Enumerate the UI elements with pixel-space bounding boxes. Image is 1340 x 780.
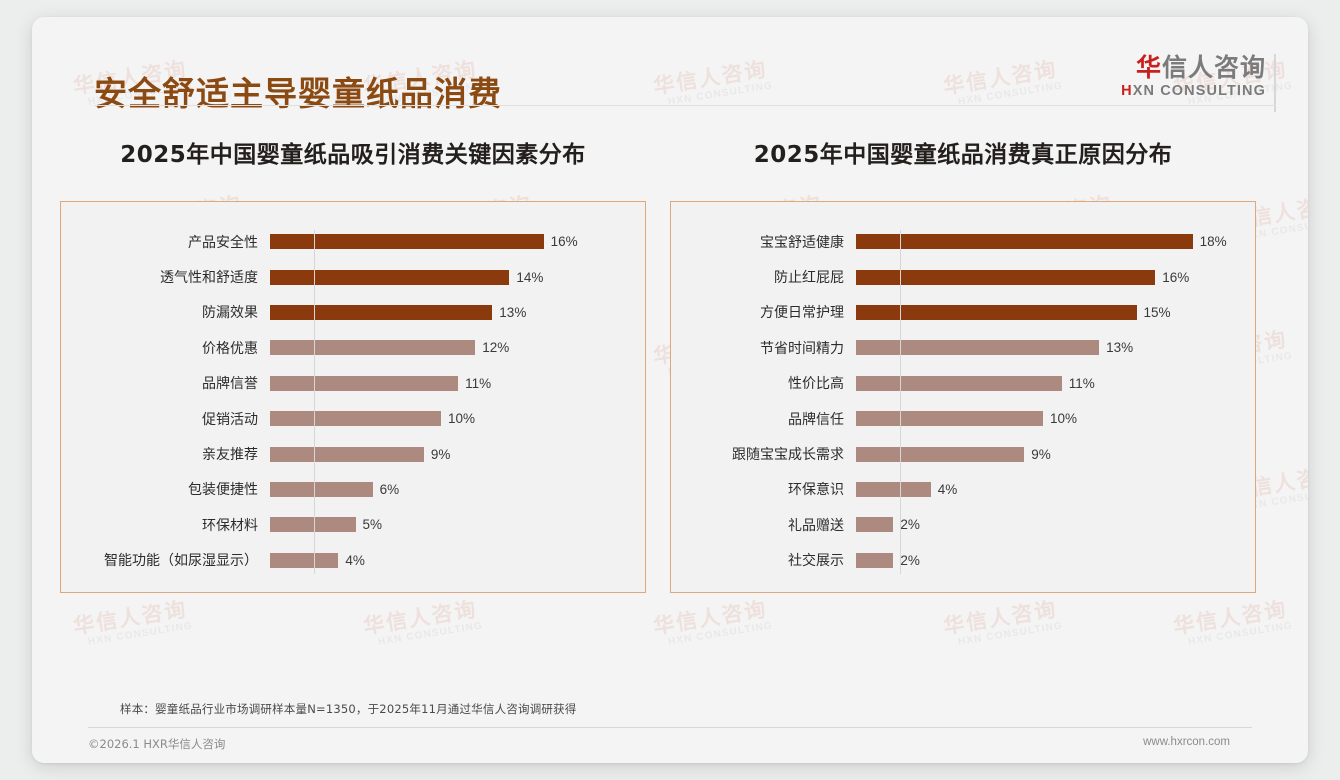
bar: [270, 482, 373, 497]
bar-category-label: 宝宝舒适健康: [671, 232, 856, 252]
bar-track: 18%: [856, 234, 1255, 249]
bar-track: 12%: [270, 340, 645, 355]
watermark-mark: 华信人咨询HXN CONSULTING: [652, 599, 774, 650]
bar-row: 智能功能（如尿湿显示）4%: [61, 544, 645, 577]
bar-category-label: 跟随宝宝成长需求: [671, 444, 856, 464]
bar-track: 5%: [270, 517, 645, 532]
bar-row: 包装便捷性6%: [61, 473, 645, 506]
bar-value-label: 2%: [900, 553, 920, 568]
bar-value-label: 6%: [380, 482, 400, 497]
bar-track: 11%: [270, 376, 645, 391]
watermark-mark: 华信人咨询HXN CONSULTING: [1172, 599, 1294, 650]
bar-row: 促销活动10%: [61, 402, 645, 435]
footer-divider: [88, 727, 1252, 728]
bar-category-label: 品牌信任: [671, 409, 856, 429]
watermark-cn: 华信人咨询: [652, 599, 772, 639]
watermark-mark: 华信人咨询HXN CONSULTING: [942, 599, 1064, 650]
plot-area-right: 宝宝舒适健康18%防止红屁屁16%方便日常护理15%节省时间精力13%性价比高1…: [671, 224, 1255, 578]
bar-category-label: 智能功能（如尿湿显示）: [61, 550, 270, 570]
bar-track: 13%: [270, 305, 645, 320]
bar: [270, 447, 424, 462]
bar-track: 6%: [270, 482, 645, 497]
bar-row: 产品安全性16%: [61, 225, 645, 258]
page-title: 安全舒适主导婴童纸品消费: [94, 67, 502, 115]
bar-category-label: 环保意识: [671, 479, 856, 499]
bar-track: 15%: [856, 305, 1255, 320]
bar: [856, 234, 1193, 249]
bar-value-label: 10%: [448, 411, 475, 426]
slide-footer: ©2026.1 HXR华信人咨询 www.hxrcon.com: [88, 733, 1252, 759]
bar-value-label: 2%: [900, 517, 920, 532]
bar-row: 防止红屁屁16%: [671, 261, 1255, 294]
chart-title-right: 2025年中国婴童纸品消费真正原因分布: [670, 135, 1256, 169]
header-divider: [94, 105, 1276, 106]
bar-track: 4%: [270, 553, 645, 568]
bar-row: 礼品赠送2%: [671, 508, 1255, 541]
bar-row: 宝宝舒适健康18%: [671, 225, 1255, 258]
bar: [856, 517, 893, 532]
bar-value-label: 9%: [1031, 447, 1051, 462]
watermark-en: HXN CONSULTING: [1187, 620, 1293, 647]
bar-track: 14%: [270, 270, 645, 285]
bar: [856, 305, 1137, 320]
bar: [856, 411, 1043, 426]
bar-track: 4%: [856, 482, 1255, 497]
bar-category-label: 环保材料: [61, 515, 270, 535]
bar: [856, 482, 931, 497]
bar-category-label: 防漏效果: [61, 302, 270, 322]
bar-track: 9%: [270, 447, 645, 462]
watermark-cn: 华信人咨询: [942, 599, 1062, 639]
logo-en-rest: XN CONSULTING: [1133, 83, 1266, 99]
bar-row: 品牌信任10%: [671, 402, 1255, 435]
bar-value-label: 12%: [482, 340, 509, 355]
bar-value-label: 15%: [1144, 305, 1171, 320]
bar-row: 亲友推荐9%: [61, 438, 645, 471]
watermark-mark: 华信人咨询HXN CONSULTING: [72, 599, 194, 650]
bar-value-label: 11%: [1069, 376, 1095, 391]
watermark-en: HXN CONSULTING: [377, 620, 483, 647]
bar-value-label: 4%: [938, 482, 958, 497]
bar: [856, 553, 893, 568]
bar: [270, 305, 492, 320]
company-logo: 华信人咨询 HXN CONSULTING: [1121, 54, 1276, 112]
chart-panel-left: 产品安全性16%透气性和舒适度14%防漏效果13%价格优惠12%品牌信誉11%促…: [60, 201, 646, 593]
bar-row: 环保材料5%: [61, 508, 645, 541]
chart-block-right: 2025年中国婴童纸品消费真正原因分布 宝宝舒适健康18%防止红屁屁16%方便日…: [670, 135, 1256, 593]
bar-track: 16%: [856, 270, 1255, 285]
bar-value-label: 18%: [1200, 234, 1227, 249]
plot-area-left: 产品安全性16%透气性和舒适度14%防漏效果13%价格优惠12%品牌信誉11%促…: [61, 224, 645, 578]
bar-category-label: 价格优惠: [61, 338, 270, 358]
bar-value-label: 5%: [363, 517, 383, 532]
footer-website[interactable]: www.hxrcon.com: [1143, 736, 1230, 748]
bar-category-label: 节省时间精力: [671, 338, 856, 358]
bar-row: 节省时间精力13%: [671, 331, 1255, 364]
bar-track: 13%: [856, 340, 1255, 355]
logo-en-highlight: H: [1121, 83, 1133, 99]
bar-value-label: 10%: [1050, 411, 1077, 426]
bar-category-label: 礼品赠送: [671, 515, 856, 535]
bar-value-label: 13%: [1106, 340, 1133, 355]
footer-copyright: ©2026.1 HXR华信人咨询: [88, 736, 225, 752]
bar-value-label: 14%: [516, 270, 543, 285]
bar-value-label: 11%: [465, 376, 491, 391]
bar-value-label: 16%: [1162, 270, 1189, 285]
bar-value-label: 9%: [431, 447, 451, 462]
bar-track: 2%: [856, 553, 1255, 568]
bar-category-label: 方便日常护理: [671, 302, 856, 322]
slide-header: 安全舒适主导婴童纸品消费 华信人咨询 HXN CONSULTING: [32, 17, 1308, 107]
bar: [270, 553, 338, 568]
logo-cn-highlight: 华: [1136, 53, 1162, 82]
watermark-cn: 华信人咨询: [362, 599, 482, 639]
bar: [270, 340, 475, 355]
bar-row: 品牌信誉11%: [61, 367, 645, 400]
bar-category-label: 防止红屁屁: [671, 267, 856, 287]
bar-category-label: 亲友推荐: [61, 444, 270, 464]
watermark-en: HXN CONSULTING: [87, 620, 193, 647]
charts-container: 2025年中国婴童纸品吸引消费关键因素分布 产品安全性16%透气性和舒适度14%…: [32, 135, 1308, 593]
logo-english-text: HXN CONSULTING: [1121, 82, 1266, 100]
bar: [270, 270, 509, 285]
bar-track: 2%: [856, 517, 1255, 532]
logo-cn-rest: 信人咨询: [1162, 53, 1266, 82]
bar-value-label: 13%: [499, 305, 526, 320]
bar-row: 社交展示2%: [671, 544, 1255, 577]
bar-row: 跟随宝宝成长需求9%: [671, 438, 1255, 471]
bar-track: 9%: [856, 447, 1255, 462]
bar-category-label: 透气性和舒适度: [61, 267, 270, 287]
bar-track: 10%: [856, 411, 1255, 426]
bar-track: 16%: [270, 234, 645, 249]
chart-block-left: 2025年中国婴童纸品吸引消费关键因素分布 产品安全性16%透气性和舒适度14%…: [60, 135, 646, 593]
watermark-cn: 华信人咨询: [1172, 599, 1292, 639]
source-note: 样本：婴童纸品行业市场调研样本量N=1350，于2025年11月通过华信人咨询调…: [120, 701, 577, 717]
bar-category-label: 产品安全性: [61, 232, 270, 252]
axis-line-left: [314, 230, 315, 574]
slide-card: 华信人咨询HXN CONSULTING华信人咨询HXN CONSULTING华信…: [32, 17, 1308, 763]
bar-value-label: 16%: [551, 234, 578, 249]
bar: [270, 517, 356, 532]
chart-panel-right: 宝宝舒适健康18%防止红屁屁16%方便日常护理15%节省时间精力13%性价比高1…: [670, 201, 1256, 593]
bar: [856, 376, 1062, 391]
bar-category-label: 性价比高: [671, 373, 856, 393]
bar-row: 环保意识4%: [671, 473, 1255, 506]
bar: [270, 376, 458, 391]
bar-category-label: 包装便捷性: [61, 479, 270, 499]
bar-row: 透气性和舒适度14%: [61, 261, 645, 294]
watermark-en: HXN CONSULTING: [957, 620, 1063, 647]
bar-row: 防漏效果13%: [61, 296, 645, 329]
bar: [270, 411, 441, 426]
bar-row: 方便日常护理15%: [671, 296, 1255, 329]
bar: [270, 234, 544, 249]
chart-title-left: 2025年中国婴童纸品吸引消费关键因素分布: [60, 135, 646, 169]
bar-value-label: 4%: [345, 553, 365, 568]
bar-row: 价格优惠12%: [61, 331, 645, 364]
bar-track: 10%: [270, 411, 645, 426]
axis-line-right: [900, 230, 901, 574]
bar-row: 性价比高11%: [671, 367, 1255, 400]
bar: [856, 447, 1024, 462]
bar-category-label: 品牌信誉: [61, 373, 270, 393]
bar-category-label: 社交展示: [671, 550, 856, 570]
logo-chinese-text: 华信人咨询: [1121, 54, 1266, 82]
bar-track: 11%: [856, 376, 1255, 391]
watermark-mark: 华信人咨询HXN CONSULTING: [362, 599, 484, 650]
watermark-cn: 华信人咨询: [72, 599, 192, 639]
bar: [856, 340, 1099, 355]
watermark-en: HXN CONSULTING: [667, 620, 773, 647]
bar-category-label: 促销活动: [61, 409, 270, 429]
